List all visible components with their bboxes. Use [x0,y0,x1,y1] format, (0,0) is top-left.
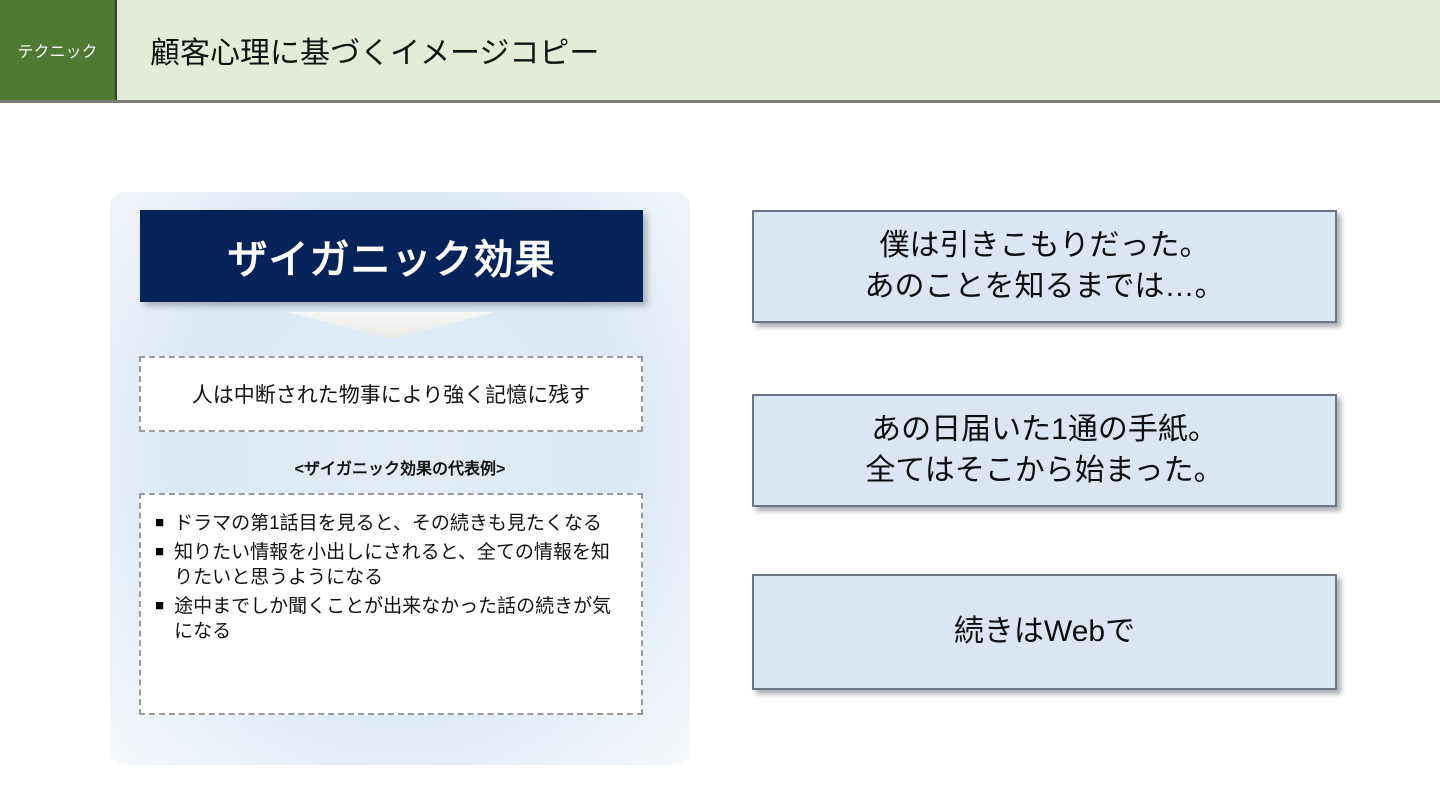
zeigarnik-title-box: ザイガニック効果 [140,210,643,302]
zeigarnik-panel: ザイガニック効果 人は中断された物事により強く記憶に残す <ザイガニック効果の代… [110,192,690,765]
zeigarnik-title-label: ザイガニック効果 [228,227,556,285]
copy-line-1: 続きはWebで [954,612,1135,653]
header-category-tag: テクニック [0,0,115,100]
zeigarnik-definition-box: 人は中断された物事により強く記憶に残す [139,356,643,432]
list-item-text: 知りたい情報を小出しにされると、全ての情報を知りたいと思うようになる [174,540,627,590]
examples-caption: <ザイガニック効果の代表例> [110,455,690,479]
header-category-label: テクニック [17,38,97,62]
slide-header-bar: テクニック 顧客心理に基づくイメージコピー [0,0,1440,103]
bullet-square-icon: ■ [155,594,164,617]
copy-example-text-2: あの日届いた1通の手紙。 全てはそこから始まった。 [865,410,1223,492]
copy-line-1: 僕は引きこもりだった。 [865,226,1225,267]
list-item: ■ ドラマの第1話目を見ると、その続きも見たくなる [155,511,627,536]
list-item-text: ドラマの第1話目を見ると、その続きも見たくなる [174,511,627,536]
examples-box: ■ ドラマの第1話目を見ると、その続きも見たくなる ■ 知りたい情報を小出しにさ… [139,493,643,715]
list-item: ■ 途中までしか聞くことが出来なかった話の続きが気になる [155,594,627,644]
copy-example-text-1: 僕は引きこもりだった。 あのことを知るまでは…。 [865,226,1225,308]
bullet-square-icon: ■ [155,540,164,563]
copy-line-2: あのことを知るまでは…。 [865,267,1225,308]
copy-line-1: あの日届いた1通の手紙。 [865,410,1223,451]
list-item-text: 途中までしか聞くことが出来なかった話の続きが気になる [174,594,627,644]
copy-example-box-2: あの日届いた1通の手紙。 全てはそこから始まった。 [752,394,1337,507]
zeigarnik-definition-text: 人は中断された物事により強く記憶に残す [192,379,591,409]
copy-example-box-1: 僕は引きこもりだった。 あのことを知るまでは…。 [752,210,1337,323]
header-divider [115,0,117,100]
down-arrow-icon [287,312,495,339]
copy-example-text-3: 続きはWebで [954,612,1135,653]
copy-line-2: 全てはそこから始まった。 [865,451,1223,492]
copy-example-box-3: 続きはWebで [752,574,1337,690]
list-item: ■ 知りたい情報を小出しにされると、全ての情報を知りたいと思うようになる [155,540,627,590]
page-title: 顧客心理に基づくイメージコピー [150,0,599,100]
bullet-square-icon: ■ [155,511,164,534]
